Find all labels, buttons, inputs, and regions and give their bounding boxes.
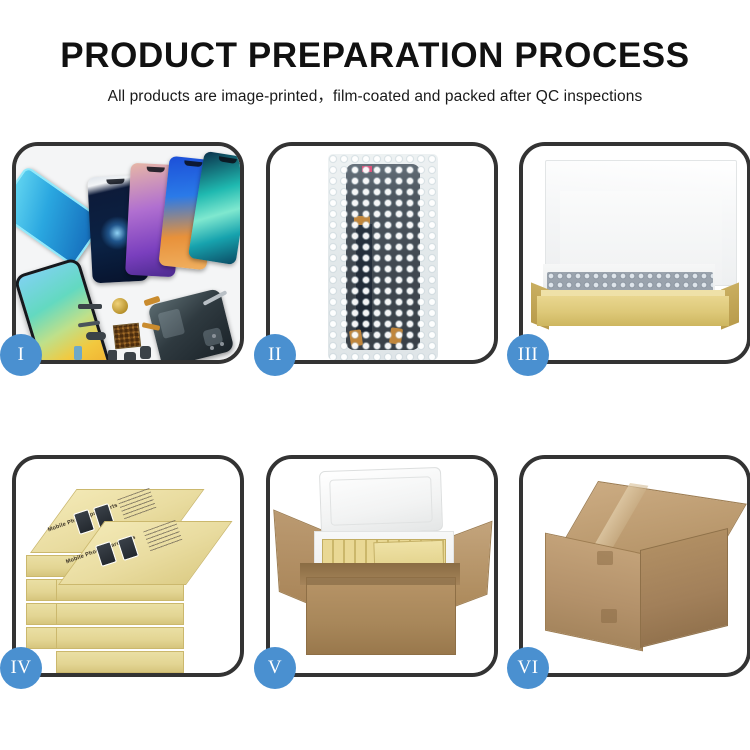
- step-badge-4: IV: [0, 647, 42, 689]
- screw-part: [212, 334, 216, 338]
- phone-notch-icon: [147, 167, 165, 173]
- phone-notch-icon: [106, 179, 124, 185]
- step-image-open-tray-box-with-bubble-wrapped-part: [523, 146, 747, 360]
- step-badge-2: II: [254, 334, 296, 376]
- camera-module-part: [124, 352, 136, 360]
- carton-side-face: [640, 528, 728, 648]
- page-subtitle: All products are image-printed，film-coat…: [0, 84, 750, 106]
- carton-tab-lower: [601, 609, 617, 623]
- step-image-lcd-screen-in-bubble-wrap: [270, 146, 494, 360]
- carton-front-face: [545, 533, 643, 652]
- step-badge-1: I: [0, 334, 42, 376]
- chip-array-part: [113, 323, 141, 350]
- step-image-stacked-retail-boxes: Mobile Phone Spare Parts Mobile Phone Sp…: [16, 459, 240, 673]
- step-panel-3: III: [519, 142, 750, 364]
- phone-notch-icon: [184, 160, 202, 167]
- step-panel-6: VI: [519, 455, 750, 677]
- step-image-sealed-shipping-carton: [523, 459, 747, 673]
- step-panel-1: I: [12, 142, 244, 364]
- carton-tab-upper: [597, 551, 613, 565]
- step-panel-5: V: [266, 455, 498, 677]
- step-badge-6: VI: [507, 647, 549, 689]
- foam-lid: [319, 467, 443, 535]
- bubble-wrap-bag: [328, 154, 438, 360]
- step-panel-4: Mobile Phone Spare Parts Mobile Phone Sp…: [12, 455, 244, 677]
- speaker-coil-part: [112, 298, 128, 314]
- step-badge-3: III: [507, 334, 549, 376]
- step-badge-5: V: [254, 647, 296, 689]
- screw-part: [210, 346, 214, 350]
- earpiece-speaker-part: [78, 304, 102, 309]
- phone-back-housing: [147, 288, 234, 360]
- bubble-texture: [328, 154, 438, 360]
- retail-box-edge: [56, 627, 184, 649]
- phone-notch-icon: [218, 156, 237, 164]
- sim-tray-part: [108, 350, 117, 360]
- step-image-phone-screens-and-spare-parts: [16, 146, 240, 360]
- step-image-open-carton-with-foam-and-boxes: [270, 459, 494, 673]
- retail-box-edge: [56, 651, 184, 673]
- retail-box-edge: [56, 603, 184, 625]
- yellow-tray-base: [537, 296, 729, 326]
- small-component-part: [74, 346, 82, 360]
- step-panel-2: II: [266, 142, 498, 364]
- page-header: PRODUCT PREPARATION PROCESS All products…: [0, 0, 750, 130]
- carton-body: [306, 577, 456, 655]
- battery-connector-part: [140, 346, 151, 359]
- vibrator-motor-part: [86, 332, 106, 340]
- page-title: PRODUCT PREPARATION PROCESS: [0, 36, 750, 76]
- screw-part: [220, 342, 224, 346]
- steps-grid: I II III: [0, 130, 750, 710]
